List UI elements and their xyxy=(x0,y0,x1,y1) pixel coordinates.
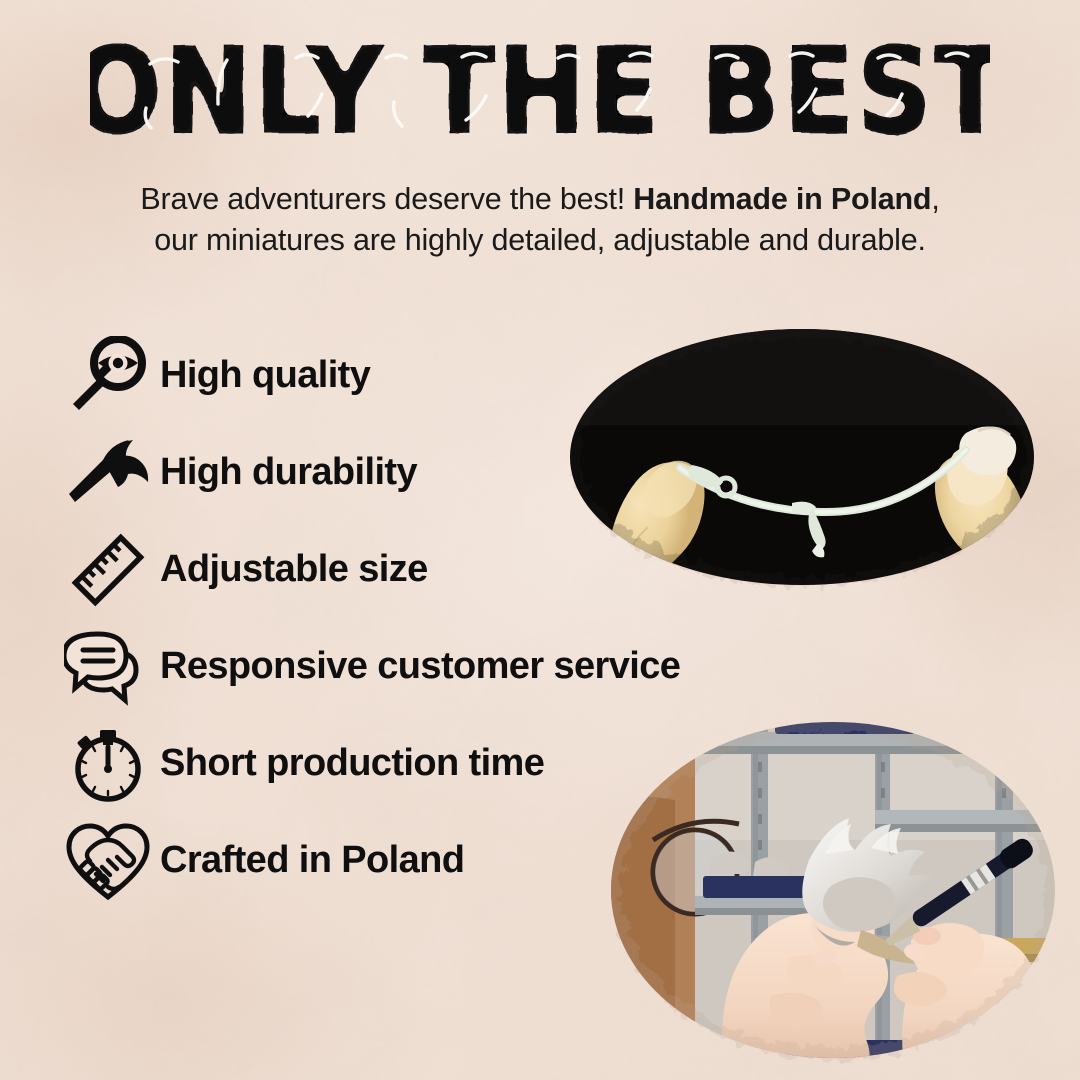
magnifier-eye-icon xyxy=(60,333,156,419)
ruler-icon xyxy=(60,527,156,613)
hammer-icon xyxy=(60,430,156,516)
workshop-painting-photo: 2 xyxy=(575,690,1080,1080)
page-title: ONLY THE BEST xyxy=(90,34,990,159)
feature-label: Responsive customer service xyxy=(160,645,680,688)
svg-text:ONLY THE BEST: ONLY THE BEST xyxy=(90,34,990,159)
feature-label: High durability xyxy=(160,451,417,494)
miniature-flex-photo xyxy=(530,305,1070,615)
feature-label: Adjustable size xyxy=(160,548,428,591)
subtitle-part-bold: Handmade in Poland xyxy=(633,182,931,216)
page-subtitle: Brave adventurers deserve the best! Hand… xyxy=(0,179,1080,261)
feature-label: High quality xyxy=(160,354,370,397)
svg-text:2: 2 xyxy=(725,715,733,731)
subtitle-part-tail: , xyxy=(931,182,939,216)
handshake-heart-icon xyxy=(60,818,156,904)
stopwatch-icon xyxy=(60,721,156,807)
speech-bubbles-icon xyxy=(60,624,156,710)
header: ONLY THE BEST Brave adventurers dese xyxy=(0,34,1080,261)
subtitle-line-2: our miniatures are highly detailed, adju… xyxy=(154,223,926,257)
subtitle-part-normal: Brave adventurers deserve the best! xyxy=(140,182,633,216)
feature-label: Short production time xyxy=(160,742,544,785)
feature-label: Crafted in Poland xyxy=(160,839,464,882)
